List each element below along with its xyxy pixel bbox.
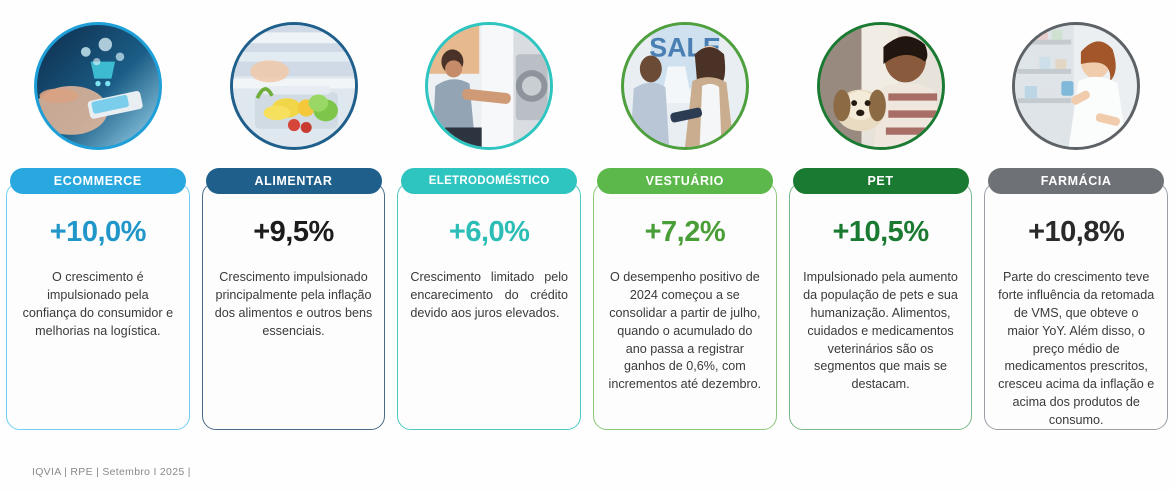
growth-value-alimentar: +9,5% <box>253 218 334 247</box>
category-photo-wrap-ecommerce <box>34 22 162 150</box>
category-badge-alimentar[interactable]: ALIMENTAR <box>206 168 382 194</box>
infographic-canvas: ECOMMERCE +10,0% O crescimento é impulsi… <box>0 0 1174 491</box>
growth-value-pet: +10,5% <box>832 218 928 247</box>
card-content-eletrodomestico: +6,0% Crescimento limitado pelo encareci… <box>397 190 581 426</box>
category-badge-eletrodomestico[interactable]: ELETRODOMÉSTICO <box>401 168 577 194</box>
card-content-pet: +10,5% Impulsionado pela aumento da popu… <box>789 190 973 426</box>
category-badge-ecommerce[interactable]: ECOMMERCE <box>10 168 186 194</box>
category-card-farmacia[interactable]: FARMÁCIA +10,8% Parte do crescimento tev… <box>978 0 1174 445</box>
card-content-farmacia: +10,8% Parte do crescimento teve forte i… <box>984 190 1168 426</box>
growth-description-eletrodomestico: Crescimento limitado pelo encarecimento … <box>410 269 568 323</box>
category-photo-wrap-pet <box>817 22 945 150</box>
growth-value-vestuario: +7,2% <box>645 218 726 247</box>
category-photo-wrap-eletrodomestico <box>425 22 553 150</box>
category-card-vestuario[interactable]: SALE VESTUÁRIO +7,2% O desempenho positi… <box>587 0 783 445</box>
category-badge-label: VESTUÁRIO <box>646 174 724 188</box>
growth-description-vestuario: O desempenho positivo de 2024 começou a … <box>606 269 764 394</box>
growth-value-farmacia: +10,8% <box>1028 218 1124 247</box>
growth-value-ecommerce: +10,0% <box>50 218 146 247</box>
source-footnote: IQVIA | RPE | Setembro I 2025 | <box>32 466 191 478</box>
growth-description-alimentar: Crescimento impulsionado principalmente … <box>215 269 373 341</box>
women-clothing-store-sale-photo: SALE <box>624 25 746 147</box>
category-badge-label: ELETRODOMÉSTICO <box>429 175 550 187</box>
category-badge-farmacia[interactable]: FARMÁCIA <box>988 168 1164 194</box>
category-card-pet[interactable]: PET +10,5% Impulsionado pela aumento da … <box>783 0 979 445</box>
growth-value-eletrodomestico: +6,0% <box>449 218 530 247</box>
category-badge-label: ECOMMERCE <box>54 174 142 188</box>
growth-description-pet: Impulsionado pela aumento da população d… <box>802 269 960 394</box>
card-content-alimentar: +9,5% Crescimento impulsionado principal… <box>202 190 386 426</box>
category-photo-wrap-farmacia <box>1012 22 1140 150</box>
shopping-cart-groceries-photo <box>233 25 355 147</box>
category-badge-label: ALIMENTAR <box>254 174 332 188</box>
card-content-ecommerce: +10,0% O crescimento é impulsionado pela… <box>6 190 190 426</box>
category-card-eletrodomestico[interactable]: ELETRODOMÉSTICO +6,0% Crescimento limita… <box>391 0 587 445</box>
category-photo-wrap-alimentar <box>230 22 358 150</box>
hand-holding-phone-ecommerce-photo <box>37 25 159 147</box>
category-photo-wrap-vestuario: SALE <box>621 22 749 150</box>
category-cards-row: ECOMMERCE +10,0% O crescimento é impulsi… <box>0 0 1174 445</box>
pharmacist-at-shelf-photo <box>1015 25 1137 147</box>
category-badge-pet[interactable]: PET <box>793 168 969 194</box>
card-content-vestuario: +7,2% O desempenho positivo de 2024 come… <box>593 190 777 426</box>
growth-description-ecommerce: O crescimento é impulsionado pela confia… <box>19 269 177 341</box>
woman-with-washing-machine-photo <box>428 25 550 147</box>
person-holding-dog-photo <box>820 25 942 147</box>
growth-description-farmacia: Parte do crescimento teve forte influênc… <box>997 269 1155 430</box>
category-card-ecommerce[interactable]: ECOMMERCE +10,0% O crescimento é impulsi… <box>0 0 196 445</box>
category-card-alimentar[interactable]: ALIMENTAR +9,5% Crescimento impulsionado… <box>196 0 392 445</box>
category-badge-label: FARMÁCIA <box>1041 174 1112 188</box>
category-badge-label: PET <box>867 174 893 188</box>
category-badge-vestuario[interactable]: VESTUÁRIO <box>597 168 773 194</box>
